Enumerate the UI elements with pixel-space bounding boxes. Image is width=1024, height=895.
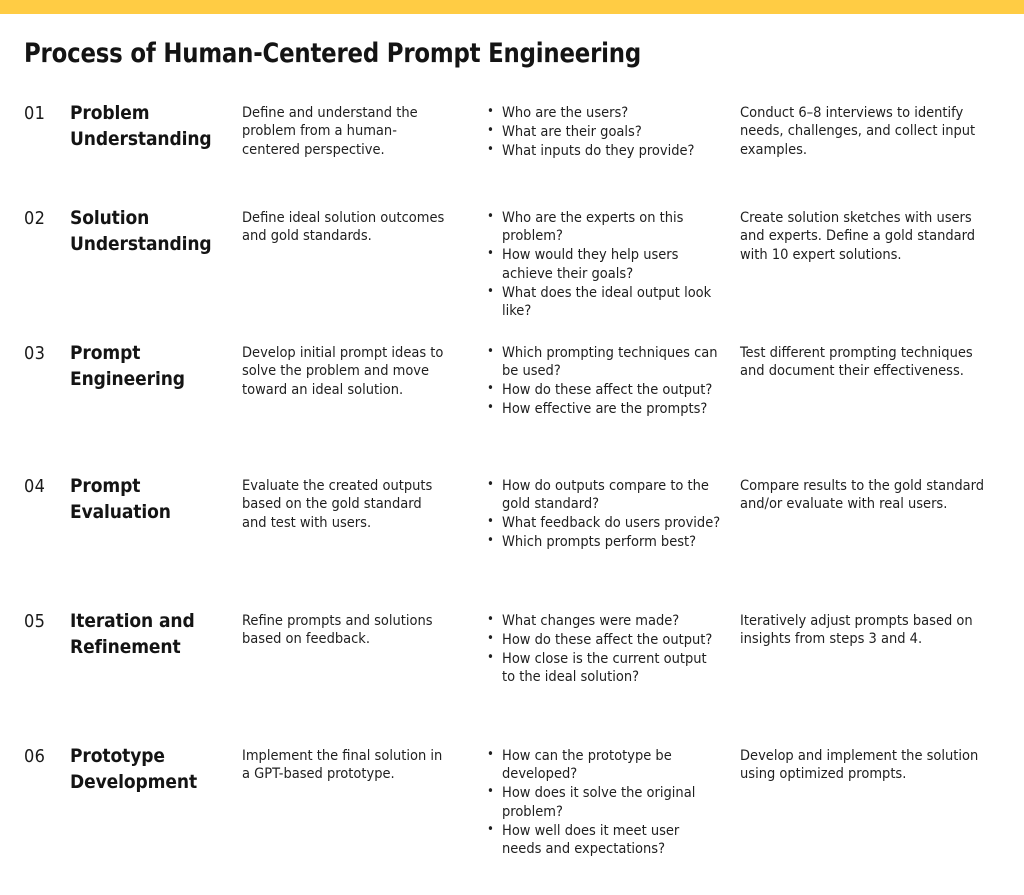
process-step-row: 01Problem UnderstandingDefine and unders…	[0, 100, 1024, 205]
page-title: Process of Human-Centered Prompt Enginee…	[24, 38, 641, 69]
step-question-item: How effective are the prompts?	[486, 400, 722, 418]
step-question-item: What feedback do users provide?	[486, 514, 722, 532]
step-question-list: Which prompting techniques can be used?H…	[486, 344, 722, 419]
step-question-item: How close is the current output to the i…	[486, 650, 722, 687]
step-action: Compare results to the gold standard and…	[740, 477, 990, 514]
step-question-item: What inputs do they provide?	[486, 142, 722, 160]
step-question-item: How does it solve the original problem?	[486, 784, 722, 821]
step-question-item: How would they help users achieve their …	[486, 246, 722, 283]
step-question-item: Who are the experts on this problem?	[486, 209, 722, 246]
step-number: 05	[24, 611, 68, 632]
step-title: Solution Understanding	[70, 205, 238, 257]
step-question-item: How do these affect the output?	[486, 631, 722, 649]
step-question-list: How can the prototype be developed?How d…	[486, 747, 722, 859]
step-question-item: How do outputs compare to the gold stand…	[486, 477, 722, 514]
step-question-item: How do these affect the output?	[486, 381, 722, 399]
step-title: Prompt Evaluation	[70, 473, 238, 525]
step-action: Iteratively adjust prompts based on insi…	[740, 612, 990, 649]
step-description: Develop initial prompt ideas to solve th…	[242, 344, 450, 399]
step-action: Develop and implement the solution using…	[740, 747, 990, 784]
step-number: 01	[24, 103, 68, 124]
step-question-item: Who are the users?	[486, 104, 722, 122]
step-question-list: How do outputs compare to the gold stand…	[486, 477, 722, 552]
step-question-item: Which prompts perform best?	[486, 533, 722, 551]
step-title: Problem Understanding	[70, 100, 238, 152]
step-question-list: What changes were made?How do these affe…	[486, 612, 722, 687]
step-question-list: Who are the users?What are their goals?W…	[486, 104, 722, 161]
process-step-list: 01Problem UnderstandingDefine and unders…	[0, 100, 1024, 853]
step-description: Evaluate the created outputs based on th…	[242, 477, 450, 532]
accent-top-bar	[0, 0, 1024, 14]
step-question-item: What are their goals?	[486, 123, 722, 141]
step-action: Conduct 6–8 interviews to identify needs…	[740, 104, 990, 159]
step-action: Create solution sketches with users and …	[740, 209, 990, 264]
step-description: Define and understand the problem from a…	[242, 104, 450, 159]
step-title: Prototype Development	[70, 743, 238, 795]
step-question-item: What changes were made?	[486, 612, 722, 630]
step-description: Define ideal solution outcomes and gold …	[242, 209, 450, 246]
step-question-item: How well does it meet user needs and exp…	[486, 822, 722, 859]
process-step-row: 04Prompt EvaluationEvaluate the created …	[0, 473, 1024, 608]
process-step-row: 02Solution UnderstandingDefine ideal sol…	[0, 205, 1024, 340]
step-action: Test different prompting techniques and …	[740, 344, 990, 381]
step-question-item: How can the prototype be developed?	[486, 747, 722, 784]
step-number: 04	[24, 476, 68, 497]
step-title: Prompt Engineering	[70, 340, 238, 392]
step-number: 06	[24, 746, 68, 767]
step-question-list: Who are the experts on this problem?How …	[486, 209, 722, 321]
step-title: Iteration and Refinement	[70, 608, 238, 660]
step-description: Refine prompts and solutions based on fe…	[242, 612, 450, 649]
process-step-row: 06Prototype DevelopmentImplement the fin…	[0, 743, 1024, 853]
process-step-row: 05Iteration and RefinementRefine prompts…	[0, 608, 1024, 743]
step-question-item: Which prompting techniques can be used?	[486, 344, 722, 381]
step-number: 03	[24, 343, 68, 364]
step-description: Implement the final solution in a GPT-ba…	[242, 747, 450, 784]
step-question-item: What does the ideal output look like?	[486, 284, 722, 321]
process-step-row: 03Prompt EngineeringDevelop initial prom…	[0, 340, 1024, 473]
step-number: 02	[24, 208, 68, 229]
